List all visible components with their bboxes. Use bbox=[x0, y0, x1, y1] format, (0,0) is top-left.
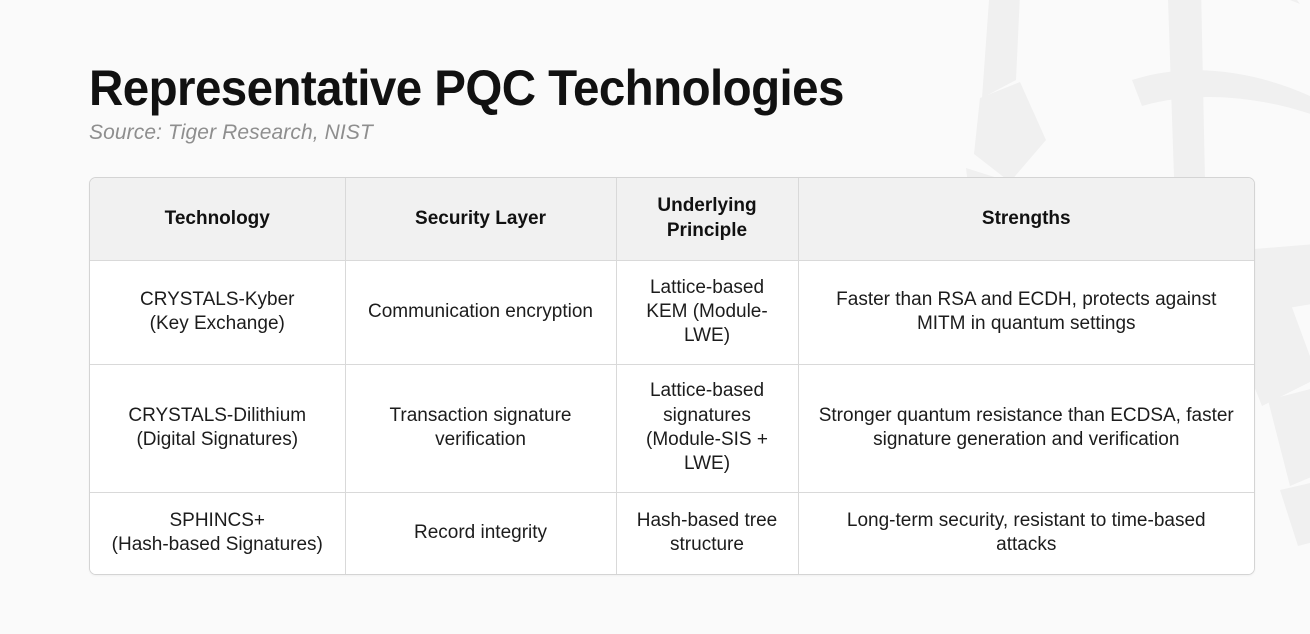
cell-line-3: (Module-SIS + bbox=[631, 428, 784, 452]
cell-line-1: CRYSTALS-Kyber bbox=[104, 288, 331, 312]
header-line-2: Principle bbox=[631, 219, 784, 243]
cell-line-1: Lattice-based bbox=[631, 276, 784, 300]
table-row: CRYSTALS-Kyber (Key Exchange) Communicat… bbox=[90, 260, 1254, 364]
cell-line-2: MITM in quantum settings bbox=[813, 312, 1241, 336]
source-caption: Source: Tiger Research, NIST bbox=[89, 121, 1254, 145]
page-content: Representative PQC Technologies Source: … bbox=[0, 0, 1310, 575]
header-line-1: Underlying bbox=[631, 194, 784, 218]
cell-technology: CRYSTALS-Dilithium (Digital Signatures) bbox=[90, 364, 345, 492]
cell-technology: CRYSTALS-Kyber (Key Exchange) bbox=[90, 260, 345, 364]
cell-line-1: Stronger quantum resistance than ECDSA, … bbox=[813, 404, 1241, 428]
cell-line-2: (Digital Signatures) bbox=[104, 428, 331, 452]
cell-line-2: (Key Exchange) bbox=[104, 312, 331, 336]
column-header-strengths: Strengths bbox=[798, 178, 1254, 260]
cell-line-2: attacks bbox=[813, 533, 1241, 557]
cell-line-3: LWE) bbox=[631, 324, 784, 348]
cell-line-1: Hash-based tree bbox=[631, 509, 784, 533]
table-header-row: Technology Security Layer Underlying Pri… bbox=[90, 178, 1254, 260]
cell-strengths: Faster than RSA and ECDH, protects again… bbox=[798, 260, 1254, 364]
cell-line-2: structure bbox=[631, 533, 784, 557]
column-header-security-layer: Security Layer bbox=[345, 178, 616, 260]
cell-line-2: signatures bbox=[631, 404, 784, 428]
cell-line-1: Lattice-based bbox=[631, 379, 784, 403]
cell-line-2: KEM (Module- bbox=[631, 300, 784, 324]
cell-line-1: Transaction signature bbox=[360, 404, 602, 428]
cell-security-layer: Transaction signature verification bbox=[345, 364, 616, 492]
cell-line-1: CRYSTALS-Dilithium bbox=[104, 404, 331, 428]
cell-line-1: Long-term security, resistant to time-ba… bbox=[813, 509, 1241, 533]
cell-line-2: (Hash-based Signatures) bbox=[104, 533, 331, 557]
table-row: SPHINCS+ (Hash-based Signatures) Record … bbox=[90, 492, 1254, 574]
cell-line-4: LWE) bbox=[631, 452, 784, 476]
cell-underlying-principle: Lattice-based signatures (Module-SIS + L… bbox=[616, 364, 798, 492]
cell-security-layer: Communication encryption bbox=[345, 260, 616, 364]
cell-technology: SPHINCS+ (Hash-based Signatures) bbox=[90, 492, 345, 574]
table-row: CRYSTALS-Dilithium (Digital Signatures) … bbox=[90, 364, 1254, 492]
column-header-technology: Technology bbox=[90, 178, 345, 260]
cell-underlying-principle: Lattice-based KEM (Module- LWE) bbox=[616, 260, 798, 364]
cell-line-1: Faster than RSA and ECDH, protects again… bbox=[813, 288, 1241, 312]
pqc-technologies-table: Technology Security Layer Underlying Pri… bbox=[89, 177, 1255, 575]
column-header-underlying-principle: Underlying Principle bbox=[616, 178, 798, 260]
cell-strengths: Long-term security, resistant to time-ba… bbox=[798, 492, 1254, 574]
cell-line-2: verification bbox=[360, 428, 602, 452]
cell-line-2: signature generation and verification bbox=[813, 428, 1241, 452]
cell-line-1: SPHINCS+ bbox=[104, 509, 331, 533]
cell-underlying-principle: Hash-based tree structure bbox=[616, 492, 798, 574]
page-title: Representative PQC Technologies bbox=[89, 62, 1196, 115]
cell-strengths: Stronger quantum resistance than ECDSA, … bbox=[798, 364, 1254, 492]
cell-security-layer: Record integrity bbox=[345, 492, 616, 574]
